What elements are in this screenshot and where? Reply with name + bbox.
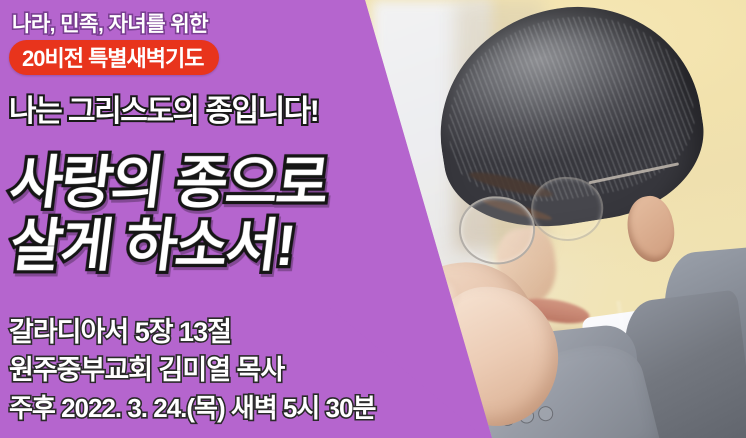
kicker-text: 나라, 민족, 자녀를 위한 [12, 8, 208, 38]
subtitle-text: 나는 그리스도의 종입니다! [9, 86, 318, 130]
event-datetime: 주후 2022. 3. 24.(목) 새벽 5시 30분 [9, 388, 375, 425]
speaker-name: 원주중부교회 김미열 목사 [9, 348, 284, 387]
scripture-reference: 갈라디아서 5장 13절 [9, 310, 231, 349]
headline-line-2: 살게 하소서! [6, 200, 299, 282]
banner-text-layer: 나라, 민족, 자녀를 위한 20비전 특별새벽기도 나는 그리스도의 종입니다… [0, 0, 746, 438]
status-badge: 20비전 특별새벽기도 [9, 40, 219, 75]
prayer-meeting-banner: 나라, 민족, 자녀를 위한 20비전 특별새벽기도 나는 그리스도의 종입니다… [0, 0, 746, 438]
